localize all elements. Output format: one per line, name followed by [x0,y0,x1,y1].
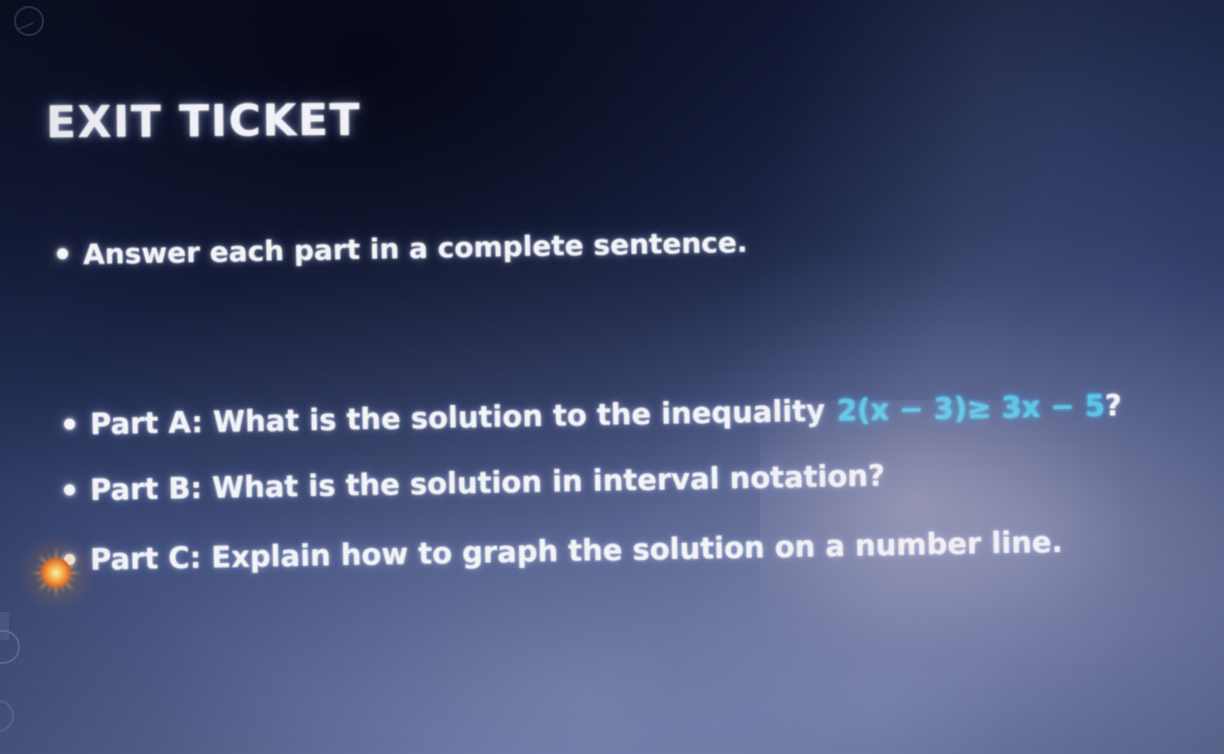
page-title: EXIT TICKET [46,95,361,149]
part-a-text: Part A: What is the solution to the ineq… [90,394,825,441]
slide-content: EXIT TICKET Answer each part in a comple… [0,0,1224,754]
bullet-dot-icon [57,248,68,259]
list-item-part-c: Part C: Explain how to graph the solutio… [64,525,1063,577]
instruction-text: Answer each part in a complete sentence. [83,226,748,271]
part-b-text: Part B: What is the solution in interval… [90,458,885,507]
bullet-dot-icon [64,418,75,429]
list-item-part-b: Part B: What is the solution in interval… [64,458,885,507]
bullet-dot-icon [64,484,75,495]
list-item-part-a: Part A: What is the solution to the ineq… [64,388,1122,441]
part-a-inequality: 2(x − 3)≥ 3x − 5 [837,389,1106,428]
projected-slide-photo: EXIT TICKET Answer each part in a comple… [0,0,1224,754]
bullet-dot-icon [64,554,75,565]
part-a-question-mark: ? [1105,388,1122,422]
instruction-bullet: Answer each part in a complete sentence. [57,226,748,272]
part-c-text: Part C: Explain how to graph the solutio… [90,525,1063,577]
